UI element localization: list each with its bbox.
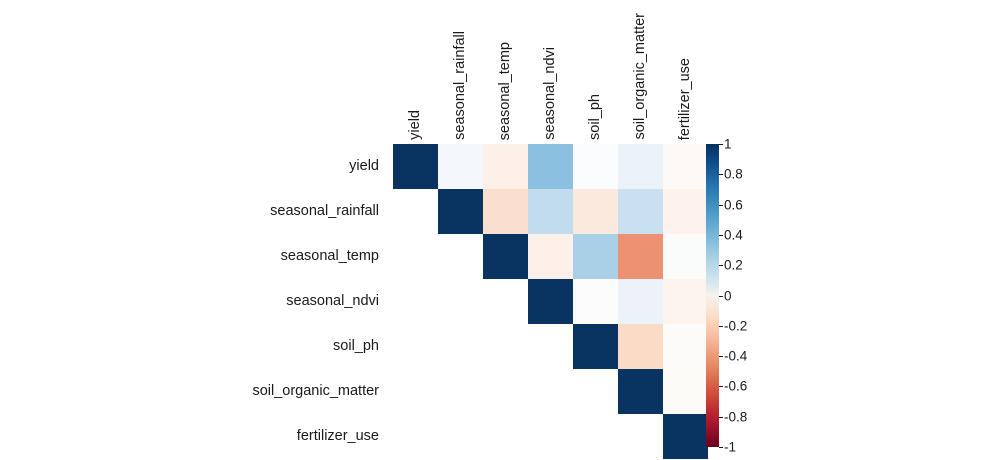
heatmap-cell-yield-yield: [393, 144, 438, 189]
colorbar-tick-mark-0: [719, 144, 723, 145]
y-tick-label-soil-organic-matter: soil_organic_matter: [252, 369, 379, 414]
colorbar-tick-mark-2: [719, 205, 723, 206]
y-tick-label-fertilizer-use: fertilizer_use: [297, 414, 379, 459]
heatmap-cell-seasonal_ndvi-fertilizer_use: [663, 279, 708, 324]
heatmap-cell-seasonal_temp-soil_organic_matter: [618, 234, 663, 279]
heatmap-cell-seasonal_rainfall-soil_organic_matter: [618, 189, 663, 234]
colorbar-tick-label-5: 0: [724, 289, 732, 303]
y-tick-label-seasonal-rainfall: seasonal_rainfall: [270, 189, 379, 234]
colorbar-tick-mark-6: [719, 326, 723, 327]
colorbar-tick-label-0: 1: [724, 137, 732, 151]
colorbar-tick-label-9: -0.8: [724, 410, 747, 424]
colorbar-tick-label-2: 0.6: [724, 198, 743, 212]
colorbar-legend: 10.80.60.40.20-0.2-0.4-0.6-0.8-1: [706, 144, 766, 459]
correlation-heatmap-figure: yield seasonal_rainfall seasonal_temp se…: [0, 0, 991, 460]
x-tick-label-soil-ph: soil_ph: [573, 94, 618, 140]
colorbar-tick-label-7: -0.4: [724, 349, 747, 363]
y-tick-label-soil-ph: soil_ph: [333, 324, 379, 369]
heatmap-cell-seasonal_rainfall-fertilizer_use: [663, 189, 708, 234]
colorbar-tick-label-8: -0.6: [724, 380, 747, 394]
heatmap-cell-seasonal_temp-fertilizer_use: [663, 234, 708, 279]
heatmap-cell-yield-soil_ph: [573, 144, 618, 189]
colorbar-tick-mark-3: [719, 235, 723, 236]
heatmap-cell-seasonal_temp-soil_ph: [573, 234, 618, 279]
colorbar-tick-mark-10: [719, 447, 723, 448]
colorbar-tick-label-3: 0.4: [724, 228, 743, 242]
heatmap-cell-yield-soil_organic_matter: [618, 144, 663, 189]
heatmap-grid: [393, 144, 708, 459]
heatmap-cell-soil_ph-soil_organic_matter: [618, 324, 663, 369]
colorbar-tick-label-10: -1: [724, 440, 736, 454]
heatmap-cell-seasonal_ndvi-seasonal_ndvi: [528, 279, 573, 324]
heatmap-cell-soil_organic_matter-soil_organic_matter: [618, 369, 663, 414]
heatmap-cell-soil_ph-fertilizer_use: [663, 324, 708, 369]
colorbar-tick-mark-4: [719, 265, 723, 266]
heatmap-cell-yield-seasonal_ndvi: [528, 144, 573, 189]
x-tick-label-soil-organic-matter: soil_organic_matter: [618, 13, 663, 140]
heatmap-cell-yield-seasonal_rainfall: [438, 144, 483, 189]
colorbar-tick-mark-9: [719, 417, 723, 418]
colorbar-tick-label-6: -0.2: [724, 319, 747, 333]
heatmap-cell-yield-fertilizer_use: [663, 144, 708, 189]
x-tick-label-yield: yield: [393, 110, 438, 140]
colorbar-tick-mark-8: [719, 386, 723, 387]
heatmap-cell-seasonal_rainfall-soil_ph: [573, 189, 618, 234]
heatmap-cell-seasonal_rainfall-seasonal_temp: [483, 189, 528, 234]
heatmap-cell-seasonal_temp-seasonal_temp: [483, 234, 528, 279]
colorbar-tick-label-4: 0.2: [724, 258, 743, 272]
x-tick-label-fertilizer-use: fertilizer_use: [663, 58, 708, 140]
y-axis-tick-labels: yield seasonal_rainfall seasonal_temp se…: [0, 144, 387, 459]
x-axis-tick-labels: yield seasonal_rainfall seasonal_temp se…: [393, 0, 708, 144]
heatmap-cell-seasonal_ndvi-soil_organic_matter: [618, 279, 663, 324]
y-tick-label-seasonal-ndvi: seasonal_ndvi: [286, 279, 379, 324]
heatmap-cell-seasonal_ndvi-soil_ph: [573, 279, 618, 324]
heatmap-cell-fertilizer_use-fertilizer_use: [663, 414, 708, 459]
heatmap-cell-seasonal_rainfall-seasonal_ndvi: [528, 189, 573, 234]
x-tick-label-seasonal-temp: seasonal_temp: [483, 42, 528, 140]
y-tick-label-yield: yield: [349, 144, 379, 189]
heatmap-cell-yield-seasonal_temp: [483, 144, 528, 189]
colorbar-tick-mark-5: [719, 296, 723, 297]
x-tick-label-seasonal-ndvi: seasonal_ndvi: [528, 47, 573, 140]
colorbar-tick-label-1: 0.8: [724, 168, 743, 182]
colorbar-gradient: [706, 144, 719, 447]
colorbar-tick-mark-1: [719, 174, 723, 175]
heatmap-cell-seasonal_temp-seasonal_ndvi: [528, 234, 573, 279]
heatmap-cell-soil_organic_matter-fertilizer_use: [663, 369, 708, 414]
y-tick-label-seasonal-temp: seasonal_temp: [281, 234, 379, 279]
x-tick-label-seasonal-rainfall: seasonal_rainfall: [438, 31, 483, 140]
colorbar-tick-mark-7: [719, 356, 723, 357]
heatmap-cell-soil_ph-soil_ph: [573, 324, 618, 369]
heatmap-cell-seasonal_rainfall-seasonal_rainfall: [438, 189, 483, 234]
